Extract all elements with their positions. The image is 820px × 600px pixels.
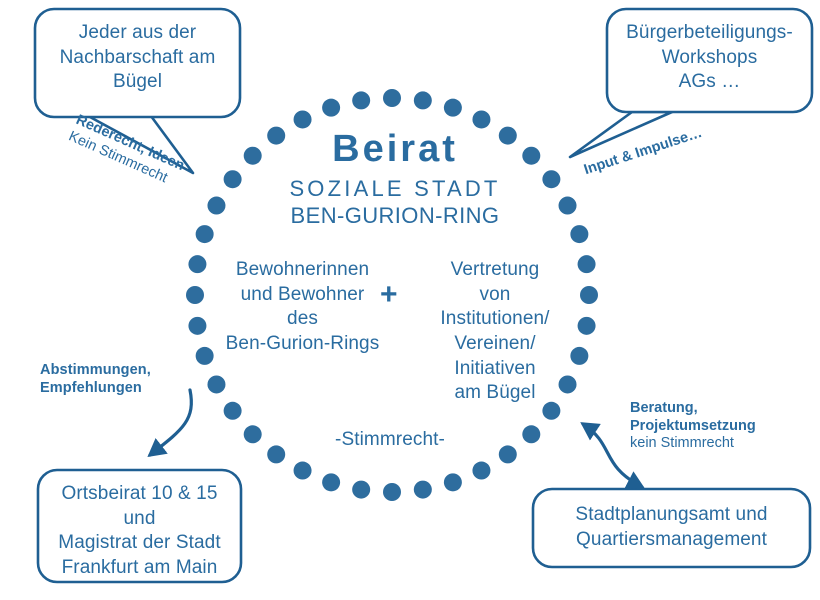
arrow-abstimmungen — [150, 390, 191, 455]
ring-dot — [294, 110, 312, 128]
page-subtitle: SOZIALE STADT — [215, 176, 575, 202]
ring-dot — [186, 286, 204, 304]
plus-icon: + — [380, 278, 398, 312]
ring-dot — [414, 481, 432, 499]
ring-dot — [522, 425, 540, 443]
connector-label-bottom-right: Beratung, Projektumsetzung kein Stimmrec… — [630, 400, 800, 453]
ring-dot — [472, 110, 490, 128]
box-bottom-left-text: Ortsbeirat 10 & 15 und Magistrat der Sta… — [42, 482, 237, 581]
ring-column-residents: Bewohnerinnen und Bewohner des Ben-Gurio… — [215, 258, 390, 357]
ring-dot — [244, 425, 262, 443]
ring-dot — [414, 91, 432, 109]
ring-dot — [294, 462, 312, 480]
diagram-canvas: Beirat SOZIALE STADT BEN-GURION-RING Bew… — [0, 0, 820, 600]
ring-dot — [444, 99, 462, 117]
ring-dot — [267, 445, 285, 463]
ring-dot — [207, 375, 225, 393]
ring-dot — [196, 347, 214, 365]
connector-label-bottom-left-bold: Abstimmungen, Empfehlungen — [40, 362, 190, 397]
ring-dot — [444, 473, 462, 491]
ring-dot — [322, 99, 340, 117]
ring-dot — [499, 445, 517, 463]
ring-dot — [578, 255, 596, 273]
ring-column-institutions: Vertretung von Institutionen/ Vereinen/ … — [415, 258, 575, 406]
ring-dot — [578, 317, 596, 335]
page-title: Beirat — [215, 128, 575, 171]
box-bottom-right-text: Stadtplanungsamt und Quartiersmanagement — [537, 503, 806, 552]
ring-footer-stimmrecht: -Stimmrecht- — [290, 428, 490, 453]
ring-dot — [580, 286, 598, 304]
ring-dot — [352, 481, 370, 499]
page-subtitle-secondary: BEN-GURION-RING — [215, 203, 575, 229]
connector-label-bottom-right-bold: Beratung, Projektumsetzung — [630, 400, 800, 435]
ring-dot — [322, 473, 340, 491]
bubble-top-left-text: Jeder aus der Nachbarschaft am Bügel — [41, 21, 234, 95]
ring-dot — [383, 89, 401, 107]
ring-dot — [472, 462, 490, 480]
connector-label-bottom-right-regular: kein Stimmrecht — [630, 435, 800, 453]
ring-dot — [188, 317, 206, 335]
ring-dot — [224, 402, 242, 420]
ring-dot — [352, 91, 370, 109]
bubble-top-right-text: Bürgerbeteiligungs- Workshops AGs … — [611, 21, 808, 95]
ring-dot — [188, 255, 206, 273]
ring-dot — [383, 483, 401, 501]
ring-dot — [196, 225, 214, 243]
